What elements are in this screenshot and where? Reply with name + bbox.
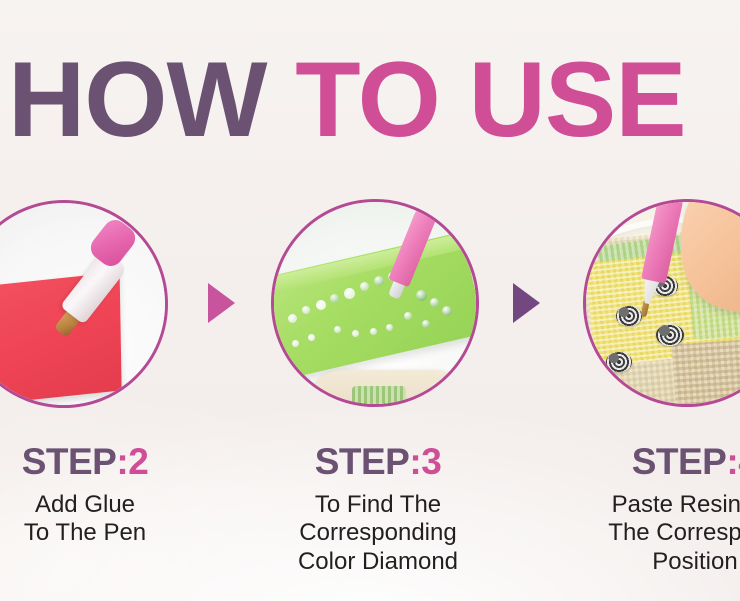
step-2-description: Add Glue To The Pen: [0, 491, 240, 548]
step-4-description: Paste Resin Dri The Correspond Position: [540, 491, 740, 576]
drill: [352, 330, 359, 337]
canvas-basket-area: [672, 336, 740, 407]
step-4-label: STEP:4: [540, 443, 740, 480]
green-drill-tray-photo: [274, 202, 476, 404]
step-4-image-circle: [583, 199, 740, 407]
drill: [386, 324, 393, 331]
step-2-label-word: STEP: [22, 441, 117, 482]
step-2-label-separator: :: [116, 441, 128, 482]
page-title-part-how: HOW: [8, 39, 295, 159]
canvas-placement-photo: [586, 202, 740, 404]
step-3-image-circle: [271, 199, 479, 407]
drill: [292, 340, 299, 347]
step-4-text-block: STEP:4 Paste Resin Dri The Correspond Po…: [540, 443, 740, 576]
step-4-label-word: STEP: [632, 441, 727, 482]
drill: [430, 298, 439, 307]
arrow-step3-to-step4-icon: [513, 283, 540, 323]
step-2-label: STEP:2: [0, 443, 240, 480]
step-3-text-block: STEP:3 To Find The Corresponding Color D…: [228, 443, 528, 576]
step-3-label: STEP:3: [228, 443, 528, 480]
drill: [442, 306, 452, 316]
arrow-step2-to-step3-icon: [208, 283, 235, 323]
drill: [360, 282, 369, 291]
drill: [334, 326, 341, 333]
drill: [330, 294, 339, 303]
drill: [316, 300, 326, 310]
step-3-label-number: 3: [421, 441, 441, 482]
berry-cluster: [656, 324, 684, 346]
berry-cluster: [606, 352, 632, 372]
partial-canvas-below-tray: [304, 370, 474, 407]
step-3-label-word: STEP: [315, 441, 410, 482]
drill: [374, 276, 384, 286]
drill: [404, 312, 412, 320]
step-2-image-circle: [0, 200, 168, 408]
step-3-description: To Find The Corresponding Color Diamond: [228, 491, 528, 576]
step-2-label-number: 2: [128, 441, 148, 482]
step-2-text-block: STEP:2 Add Glue To The Pen: [0, 443, 240, 548]
drill: [422, 320, 430, 328]
page-title: HOW TO USE: [8, 46, 740, 153]
berry-cluster: [616, 306, 642, 326]
drill: [308, 334, 315, 341]
drill: [416, 290, 427, 301]
glue-pad-and-pen-photo: [0, 203, 165, 405]
page-title-part-to-use: TO USE: [295, 39, 685, 159]
step-4-label-separator: :: [726, 441, 738, 482]
drill: [370, 328, 377, 335]
how-to-use-infographic: HOW TO USE: [0, 0, 740, 601]
drill: [344, 288, 355, 299]
step-3-label-separator: :: [409, 441, 421, 482]
drill: [302, 306, 310, 314]
drill: [288, 314, 297, 323]
